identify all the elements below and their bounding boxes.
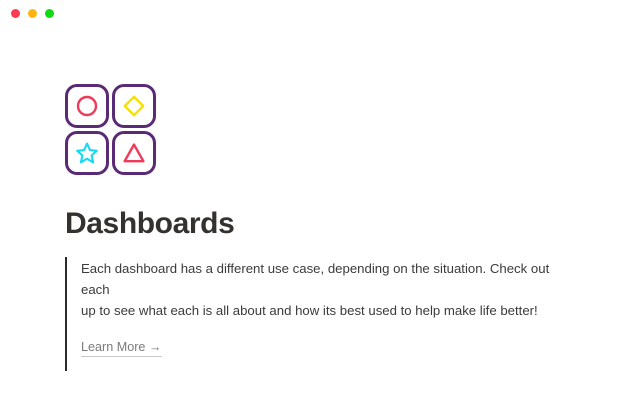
- learn-more-link[interactable]: Learn More →: [81, 340, 162, 357]
- icon-tile-diamond[interactable]: [112, 84, 156, 128]
- diamond-icon: [122, 94, 146, 118]
- page-content: Dashboards Each dashboard has a differen…: [0, 84, 640, 400]
- maximize-window-button[interactable]: [45, 9, 54, 18]
- window-controls: [11, 9, 54, 18]
- learn-more-row: Learn More →: [81, 338, 575, 357]
- star-icon: [75, 141, 99, 165]
- close-window-button[interactable]: [11, 9, 20, 18]
- circle-icon: [75, 94, 99, 118]
- page-title: Dashboards: [65, 207, 600, 240]
- description-line-2: up to see what each is all about and how…: [81, 300, 575, 321]
- icon-tile-circle[interactable]: [65, 84, 109, 128]
- icon-tile-triangle[interactable]: [112, 131, 156, 175]
- window-titlebar: [0, 0, 640, 26]
- description-block: Each dashboard has a different use case,…: [65, 257, 575, 371]
- icon-tile-star[interactable]: [65, 131, 109, 175]
- minimize-window-button[interactable]: [28, 9, 37, 18]
- triangle-icon: [122, 141, 146, 165]
- dashboard-icon-grid: [65, 84, 156, 175]
- description-line-1: Each dashboard has a different use case,…: [81, 258, 575, 300]
